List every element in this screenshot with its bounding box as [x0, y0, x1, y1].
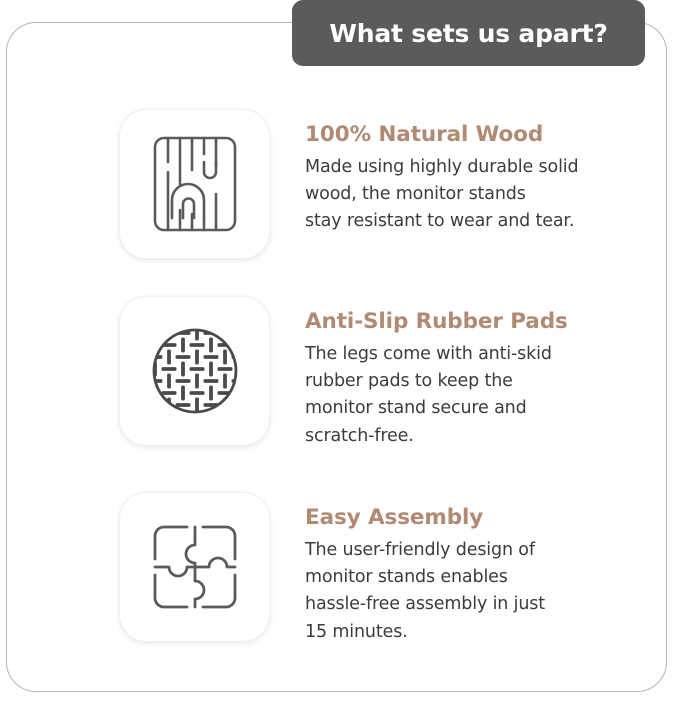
feature-title: 100% Natural Wood	[305, 123, 635, 147]
feature-description: The legs come with anti-skid rubber pads…	[305, 341, 635, 450]
description-line: monitor stand secure and	[305, 395, 635, 422]
description-line: monitor stands enables	[305, 564, 635, 591]
description-line: 15 minutes.	[305, 619, 635, 646]
header-banner: What sets us apart?	[292, 0, 645, 66]
puzzle-pieces-icon	[147, 519, 243, 615]
description-line: hassle-free assembly in just	[305, 591, 635, 618]
description-line: The legs come with anti-skid	[305, 341, 635, 368]
description-line: wood, the monitor stands	[305, 181, 635, 208]
feature-title: Easy Assembly	[305, 506, 635, 530]
feature-description: The user-friendly design of monitor stan…	[305, 537, 635, 646]
description-line: Made using highly durable solid	[305, 154, 635, 181]
wood-grain-icon	[149, 132, 241, 236]
header-title: What sets us apart?	[329, 21, 607, 46]
icon-tile-natural-wood	[120, 110, 269, 258]
rubber-pad-weave-icon	[147, 323, 243, 419]
feature-item-natural-wood: 100% Natural Wood Made using highly dura…	[120, 110, 635, 258]
feature-text-anti-slip-rubber-pads: Anti-Slip Rubber Pads The legs come with…	[305, 297, 635, 450]
icon-tile-easy-assembly	[120, 493, 269, 641]
description-line: The user-friendly design of	[305, 537, 635, 564]
description-line: scratch-free.	[305, 423, 635, 450]
feature-list: 100% Natural Wood Made using highly dura…	[0, 0, 679, 702]
feature-item-easy-assembly: Easy Assembly The user-friendly design o…	[120, 493, 635, 646]
feature-text-easy-assembly: Easy Assembly The user-friendly design o…	[305, 493, 635, 646]
description-line: rubber pads to keep the	[305, 368, 635, 395]
feature-item-anti-slip-rubber-pads: Anti-Slip Rubber Pads The legs come with…	[120, 297, 635, 450]
feature-description: Made using highly durable solid wood, th…	[305, 154, 635, 236]
feature-text-natural-wood: 100% Natural Wood Made using highly dura…	[305, 110, 635, 236]
description-line: stay resistant to wear and tear.	[305, 208, 635, 235]
icon-tile-anti-slip-rubber-pads	[120, 297, 269, 445]
feature-title: Anti-Slip Rubber Pads	[305, 310, 635, 334]
infographic-panel: What sets us apart?	[0, 0, 679, 702]
